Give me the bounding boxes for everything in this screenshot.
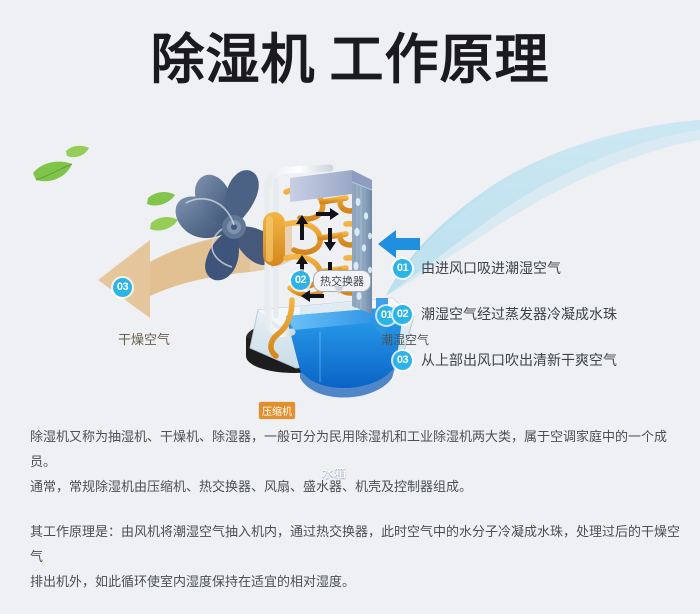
dehumidifier-infographic: 除湿机工作原理	[0, 0, 700, 566]
legend-item: 03 从上部出风口吹出清新干爽空气	[393, 350, 683, 370]
legend-item: 02 潮湿空气经过蒸发器冷凝成水珠	[393, 304, 683, 324]
diagram-badge-02: 02	[291, 271, 310, 290]
legend-item: 01 由进风口吸进潮湿空气	[393, 258, 683, 278]
page-title: 除湿机工作原理	[0, 28, 700, 92]
paragraph-2-line-2: 排出机外，如此循环使室内湿度保持在适宜的相对湿度。	[30, 569, 680, 594]
paragraph-2-line-1: 其工作原理是：由风机将潮湿空气抽入机内，通过热交换器，此时空气中的水分子冷凝成水…	[30, 519, 680, 569]
body-copy: 除湿机又称为抽湿机、干燥机、除湿器，一般可分为民用除湿机和工业除湿机两大类，属于…	[30, 424, 680, 614]
legend-text-02: 潮湿空气经过蒸发器冷凝成水珠	[421, 304, 617, 324]
leaf-icon	[33, 162, 72, 182]
legend-badge-03: 03	[393, 351, 412, 370]
leaf-icon	[147, 192, 175, 206]
title-part-1: 除湿机	[151, 30, 316, 90]
legend-text-01: 由进风口吸进潮湿空气	[421, 258, 561, 278]
legend-badge-01: 01	[393, 259, 412, 278]
callout-pointer-icon	[334, 286, 344, 295]
paragraph-2: 其工作原理是：由风机将潮湿空气抽入机内，通过热交换器，此时空气中的水分子冷凝成水…	[30, 519, 680, 594]
diagram-badge-03: 03	[113, 278, 132, 297]
air-inlet-arrow-icon	[378, 230, 420, 258]
paragraph-1-line-2: 通常，常规除湿机由压缩机、热交换器、风扇、盛水器、机壳及控制器组成。	[30, 474, 680, 499]
compressor-label: 压缩机	[259, 402, 295, 419]
legend-list: 01 由进风口吸进潮湿空气 02 潮湿空气经过蒸发器冷凝成水珠 03 从上部出风…	[393, 258, 683, 396]
dry-air-label: 干燥空气	[118, 329, 170, 348]
leaf-icon	[66, 146, 89, 157]
paragraph-1: 除湿机又称为抽湿机、干燥机、除湿器，一般可分为民用除湿机和工业除湿机两大类，属于…	[30, 424, 680, 499]
paragraph-1-line-1: 除湿机又称为抽湿机、干燥机、除湿器，一般可分为民用除湿机和工业除湿机两大类，属于…	[30, 424, 680, 474]
legend-badge-02: 02	[393, 305, 412, 324]
legend-text-03: 从上部出风口吹出清新干爽空气	[421, 350, 617, 370]
title-part-2: 工作原理	[330, 30, 550, 90]
leaf-icon	[150, 217, 178, 231]
